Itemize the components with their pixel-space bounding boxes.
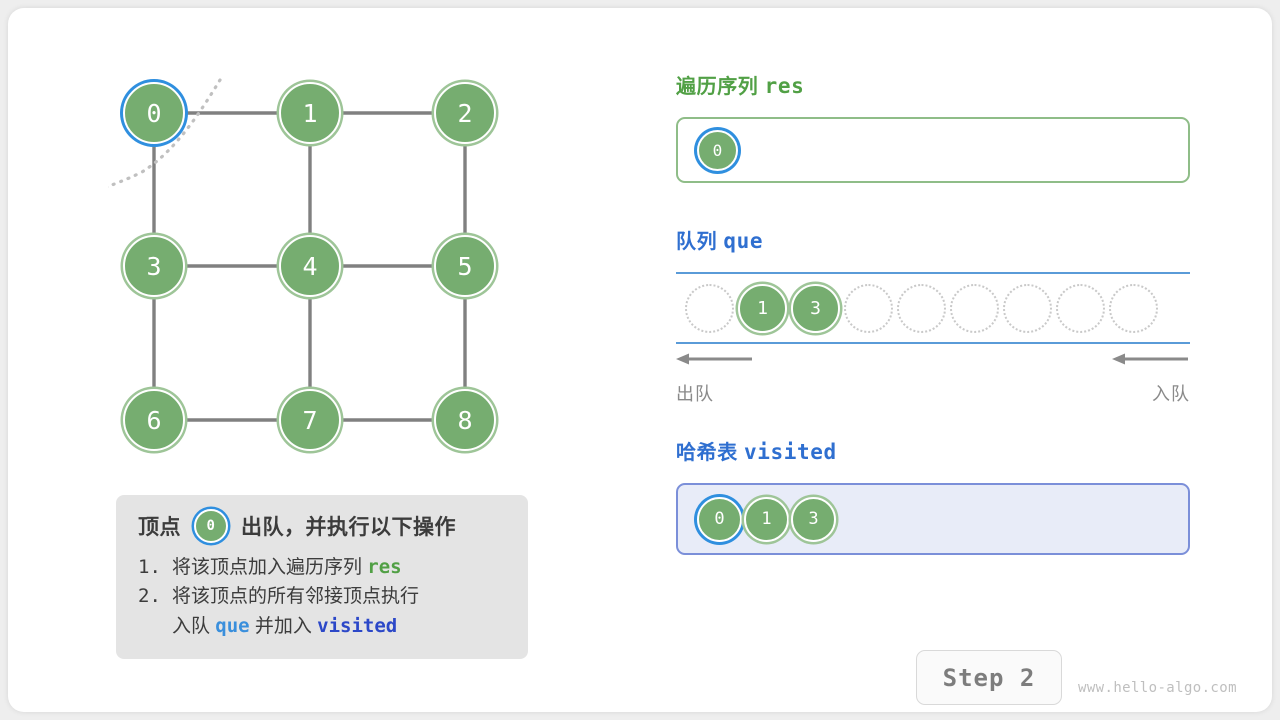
caption-text-fragment: 将该顶点的所有邻接顶点执行 [172,586,419,607]
caption-list-item: 入队 que 并加入 visited [138,612,508,641]
arrow-left-icon [1112,352,1190,366]
visited-item: 0 [697,497,742,542]
res-title-cn: 遍历序列 [676,76,758,98]
graph-node-label: 6 [146,406,161,435]
visited-title-code: visited [744,440,837,464]
caption-head-suffix: 出队，并执行以下操作 [241,511,456,541]
caption-text-fragment: 并加入 [250,616,318,637]
caption-text-fragment: res [367,556,401,578]
graph-node-6: 6 [123,389,185,451]
caption-item-number: 1. [138,553,172,582]
caption-item-text: 入队 que 并加入 visited [172,612,508,641]
visited-item: 1 [744,497,789,542]
queue-title-cn: 队列 [676,231,717,253]
visited-title-cn: 哈希表 [676,442,738,464]
caption-text-fragment: 将该顶点加入遍历序列 [172,557,367,578]
res-section: 遍历序列 res 0 [676,70,1190,183]
graph-node-0: 0 [123,82,185,144]
caption-text-fragment: visited [317,615,397,637]
caption-step-list: 1.将该顶点加入遍历序列 res2.将该顶点的所有邻接顶点执行入队 que 并加… [138,553,508,641]
caption-list-item: 2.将该顶点的所有邻接顶点执行 [138,582,508,611]
dequeue-label: 出队 [676,380,754,406]
graph-node-label: 8 [457,406,472,435]
enqueue-label: 入队 [1112,380,1190,406]
caption-list-item: 1.将该顶点加入遍历序列 res [138,553,508,582]
visited-item: 3 [791,497,836,542]
queue-title-code: que [723,229,763,253]
caption-head-prefix: 顶点 [138,511,181,541]
queue-slot-filled: 3 [791,284,840,333]
res-title: 遍历序列 res [676,70,1190,99]
queue-slot-empty [844,284,893,333]
graph-node-label: 0 [146,99,161,128]
graph-node-label: 5 [457,252,472,281]
queue-title: 队列 que [676,225,1190,254]
graph-node-3: 3 [123,235,185,297]
caption-heading: 顶点 0 出队，并执行以下操作 [138,509,508,543]
graph-node-label: 2 [457,99,472,128]
dequeue-group: 出队 [676,352,754,406]
caption-vertex-chip: 0 [194,509,228,543]
graph-node-4: 4 [279,235,341,297]
graph-node-label: 4 [302,252,317,281]
queue-slot-empty [1109,284,1158,333]
graph-node-7: 7 [279,389,341,451]
queue-slot-filled: 1 [738,284,787,333]
graph-node-label: 1 [302,99,317,128]
visited-title: 哈希表 visited [676,436,1190,465]
caption-item-number [138,612,172,641]
caption-item-text: 将该顶点的所有邻接顶点执行 [172,582,508,611]
graph-node-2: 2 [434,82,496,144]
visited-section: 哈希表 visited 013 [676,436,1190,555]
queue-slot-empty [1003,284,1052,333]
step-badge: Step 2 [916,650,1062,705]
graph-node-label: 7 [302,406,317,435]
queue-direction-labels: 出队 入队 [676,352,1190,408]
res-item: 0 [697,130,738,171]
caption-text-fragment: 入队 [172,616,215,637]
res-container: 0 [676,117,1190,183]
queue-section: 队列 que 13 出队 入队 [676,225,1190,408]
watermark: www.hello-algo.com [1078,680,1237,696]
queue-slot-empty [1056,284,1105,333]
queue-slot-empty [897,284,946,333]
graph-node-8: 8 [434,389,496,451]
caption-box: 顶点 0 出队，并执行以下操作 1.将该顶点加入遍历序列 res2.将该顶点的所… [116,495,528,659]
caption-item-text: 将该顶点加入遍历序列 res [172,553,508,582]
queue-track: 13 [676,272,1190,344]
graph-node-1: 1 [279,82,341,144]
queue-slot-empty [950,284,999,333]
queue-slot-empty [685,284,734,333]
graph-node-5: 5 [434,235,496,297]
visited-container: 013 [676,483,1190,555]
enqueue-group: 入队 [1112,352,1190,406]
caption-item-number: 2. [138,582,172,611]
arrow-left-icon [676,352,754,366]
res-title-code: res [765,74,805,98]
caption-text-fragment: que [215,615,249,637]
graph-diagram: 012345678 [108,68,538,488]
illustration-canvas: 012345678 顶点 0 出队，并执行以下操作 1.将该顶点加入遍历序列 r… [8,8,1272,712]
graph-node-label: 3 [146,252,161,281]
state-panels: 遍历序列 res 0 队列 que 13 出队 [676,70,1190,555]
